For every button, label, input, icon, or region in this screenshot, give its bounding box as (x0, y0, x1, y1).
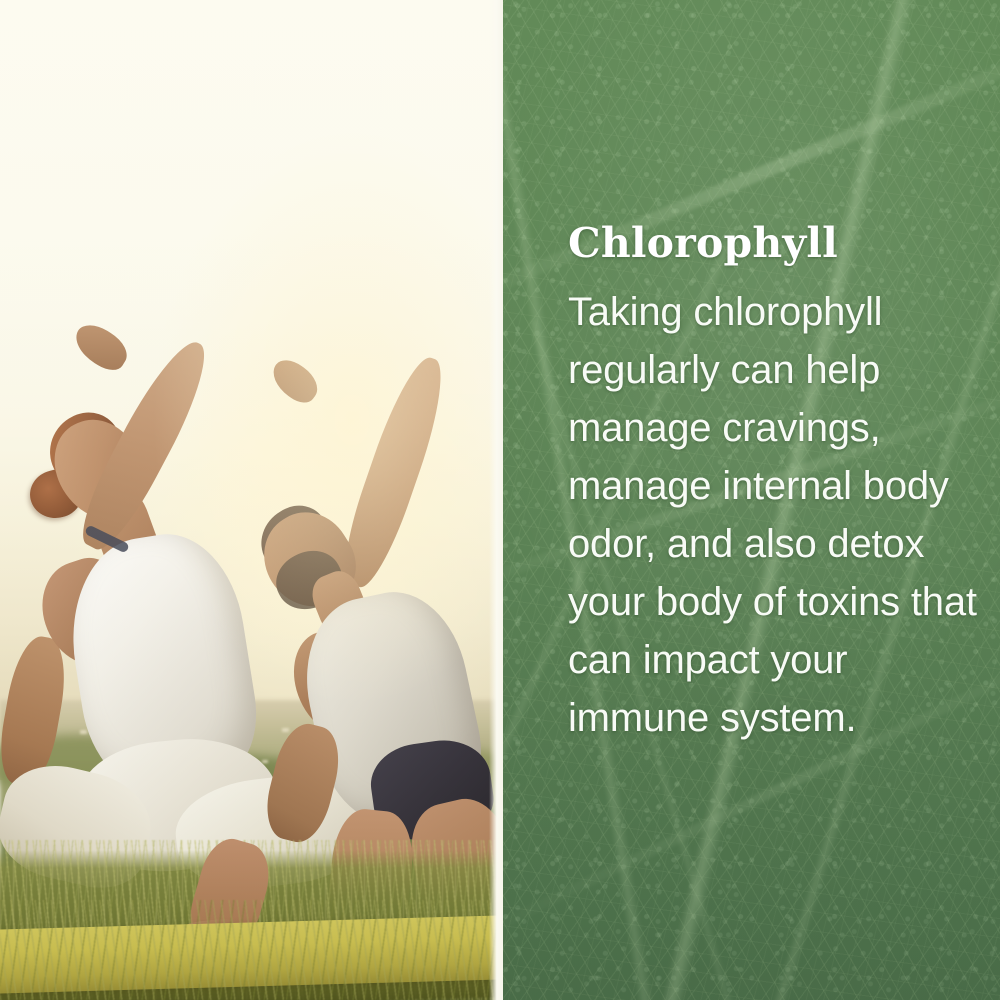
text-content-block: Chlorophyll Taking chlorophyll regularly… (568, 222, 978, 747)
body-paragraph: Taking chlorophyll regularly can help ma… (568, 283, 978, 747)
leaf-texture-panel: Chlorophyll Taking chlorophyll regularly… (503, 0, 1000, 1000)
yoga-photo (0, 0, 503, 1000)
page-title: Chlorophyll (568, 222, 978, 265)
infographic-card: Chlorophyll Taking chlorophyll regularly… (0, 0, 1000, 1000)
